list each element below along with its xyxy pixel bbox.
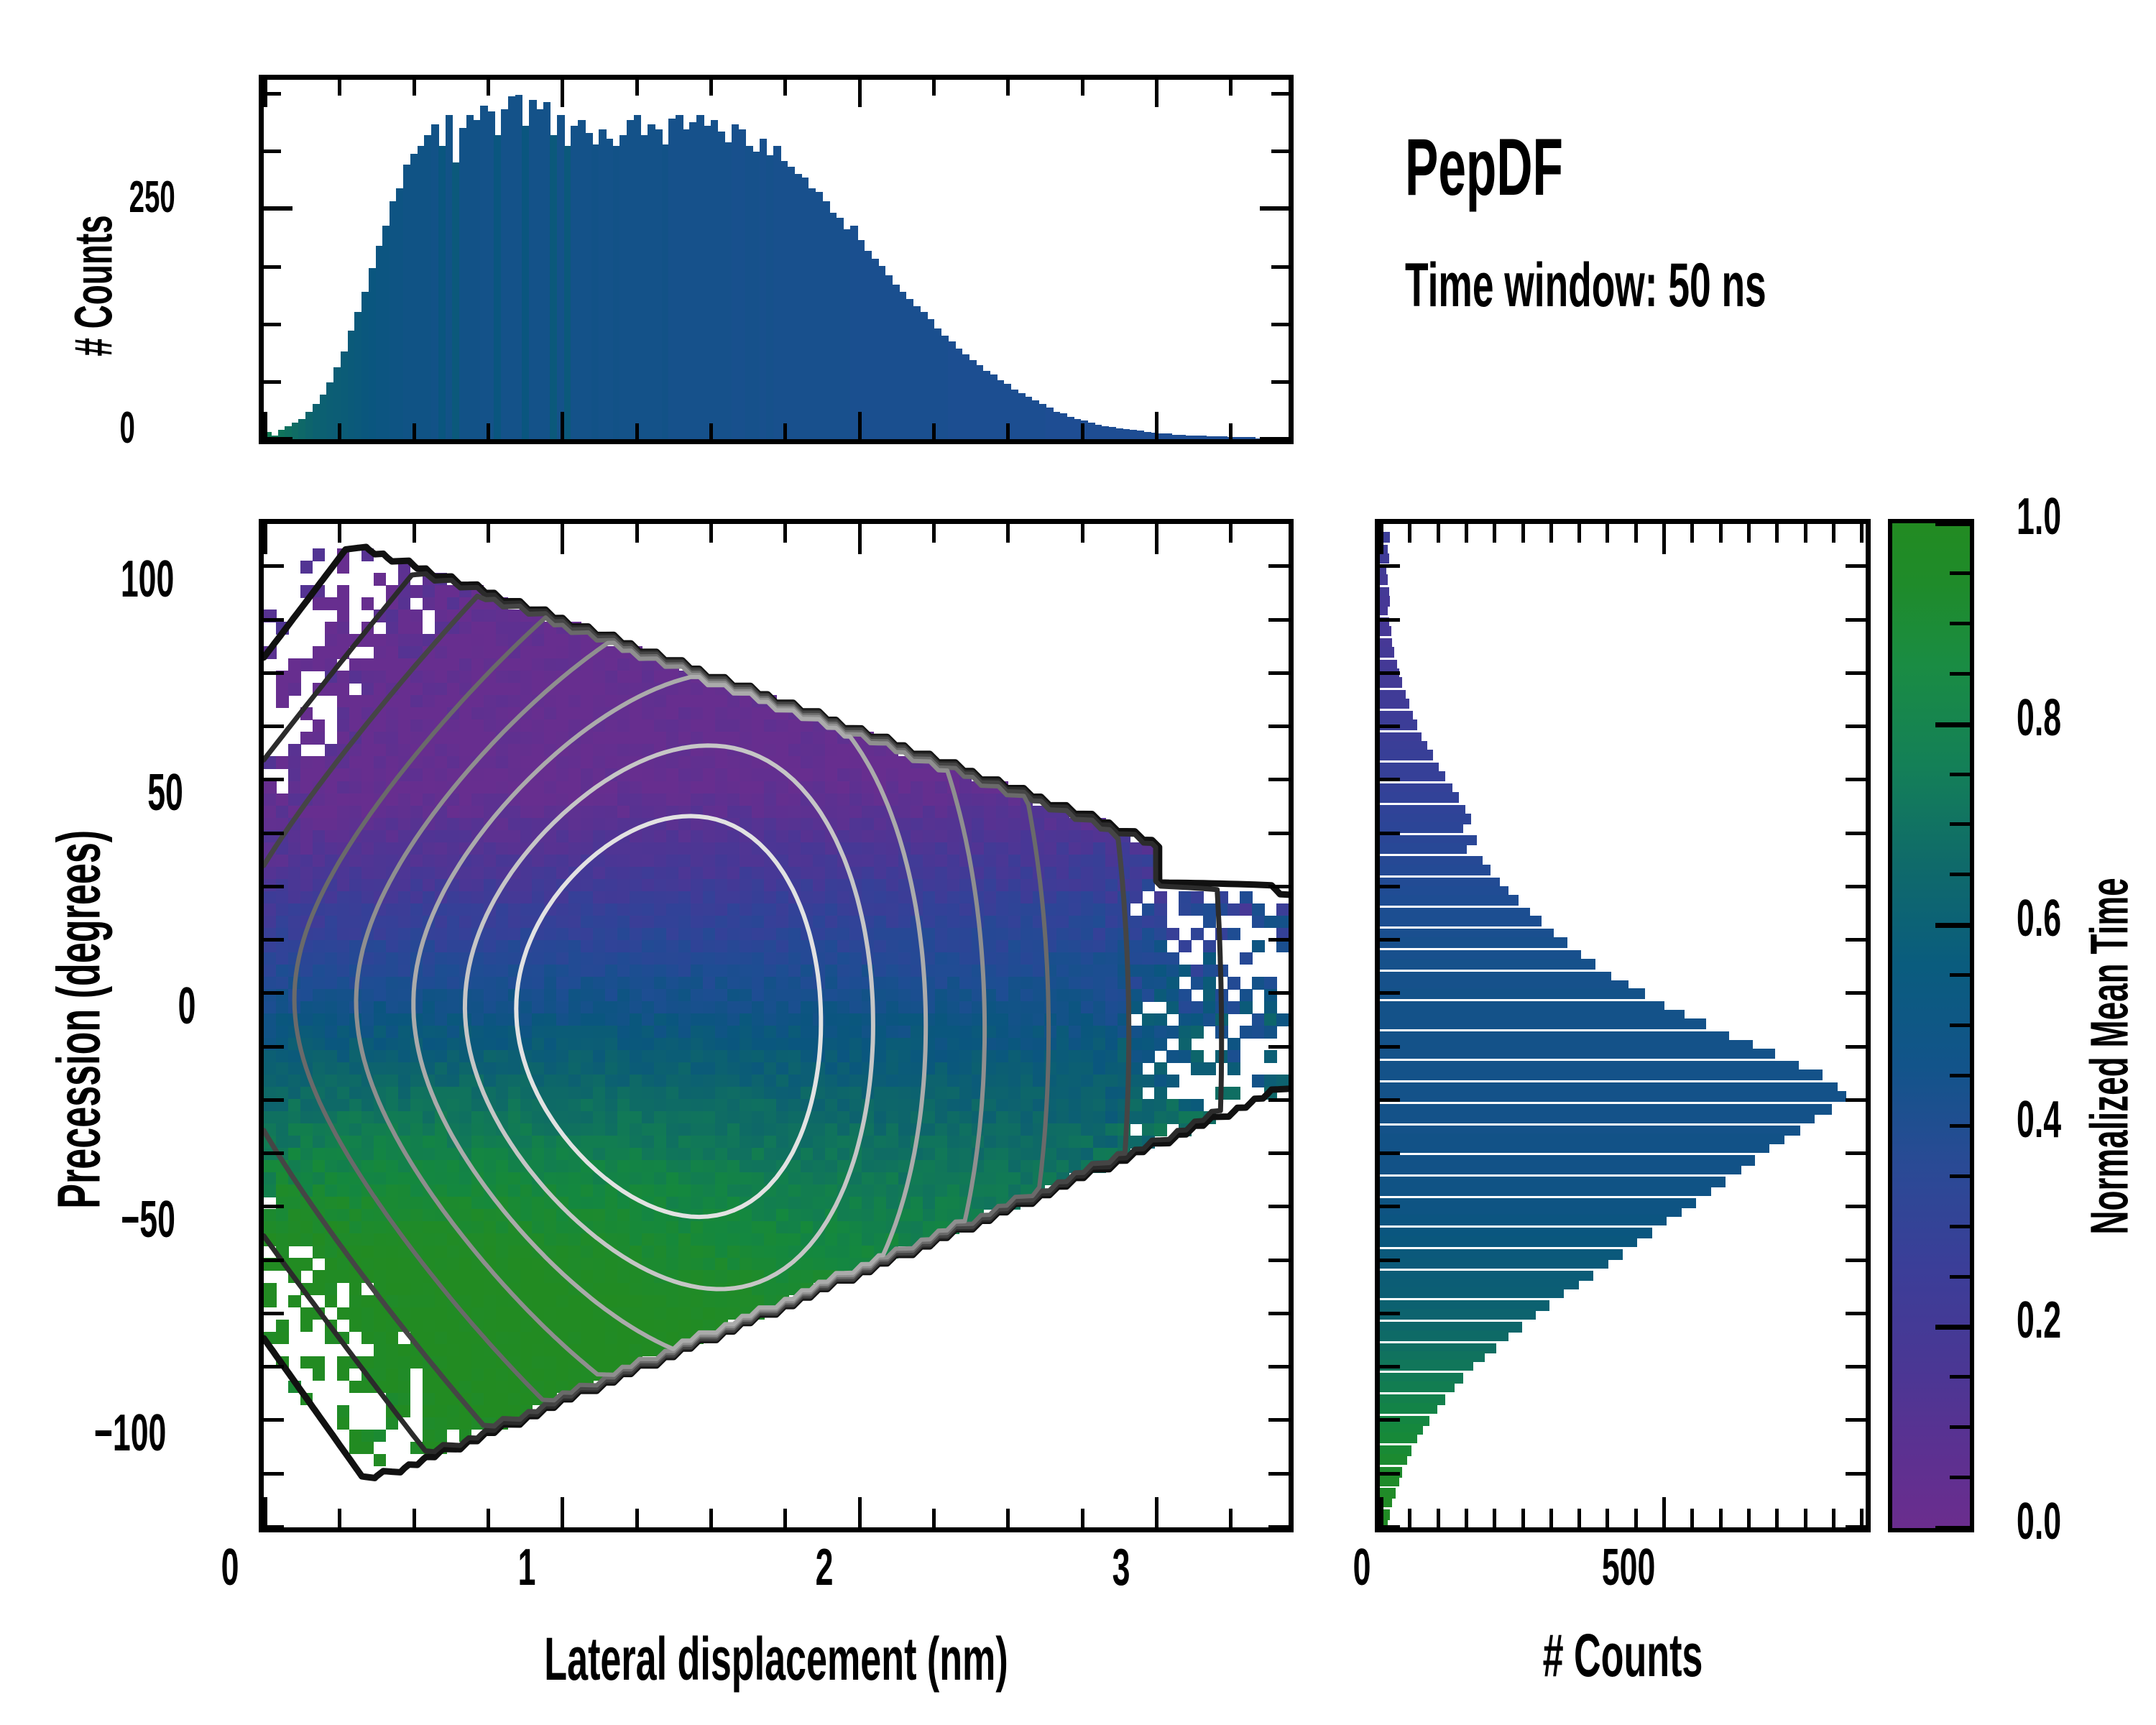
right-histogram-bar bbox=[1380, 604, 1388, 615]
right-hist-xtick-top bbox=[1804, 524, 1807, 543]
right-histogram-bar bbox=[1380, 1454, 1407, 1465]
main-xtick bbox=[1081, 1509, 1084, 1527]
top-hist-xtick bbox=[858, 80, 862, 107]
right-histogram-bar bbox=[1380, 1185, 1711, 1196]
right-hist-ytick-right bbox=[1846, 1472, 1866, 1476]
main-ytick bbox=[264, 671, 284, 675]
top-hist-ytick-minor bbox=[264, 323, 281, 326]
main-xtick bbox=[1229, 1509, 1233, 1527]
main-xlabel: Lateral displacement (nm) bbox=[456, 1624, 1097, 1694]
top-hist-xtick bbox=[932, 423, 936, 439]
right-hist-ytick bbox=[1380, 1151, 1400, 1155]
right-histogram-bar bbox=[1380, 553, 1389, 564]
colorbar-tick bbox=[1950, 1375, 1970, 1379]
colorbar-tick bbox=[1950, 1425, 1970, 1429]
main-ytick bbox=[264, 618, 284, 622]
right-hist-ytick bbox=[1380, 671, 1400, 675]
right-hist-ytick-right bbox=[1846, 564, 1866, 568]
colorbar-ticklabel-1.0: 1.0 bbox=[2017, 487, 2061, 546]
right-histogram-bar bbox=[1380, 1258, 1608, 1269]
right-histogram-bar bbox=[1380, 677, 1402, 688]
right-hist-ytick-right bbox=[1846, 618, 1866, 622]
colorbar-ticklabel-0.2: 0.2 bbox=[2017, 1291, 2061, 1350]
top-hist-xtick bbox=[561, 412, 564, 439]
main-xticklabel-3: 3 bbox=[1112, 1538, 1130, 1597]
main-xtick bbox=[1155, 1497, 1158, 1527]
main-xtick-top bbox=[561, 524, 564, 554]
right-hist-xticklabel-0: 0 bbox=[1353, 1538, 1371, 1597]
right-histogram-bar bbox=[1380, 1330, 1508, 1341]
main-yticklabel-3: 50 bbox=[147, 763, 183, 822]
right-hist-xtick-top bbox=[1719, 524, 1723, 543]
main-xticklabel-2: 2 bbox=[815, 1538, 833, 1597]
top-hist-xtick bbox=[635, 423, 639, 439]
top-hist-xtick bbox=[264, 412, 267, 439]
right-hist-ytick-right bbox=[1846, 1045, 1866, 1049]
main-ylabel: Precession (degrees) bbox=[45, 888, 114, 1208]
top-marginal-histogram-panel bbox=[259, 75, 1294, 444]
right-hist-xtick bbox=[1465, 1509, 1468, 1527]
main-xtick bbox=[487, 1509, 490, 1527]
main-ytick bbox=[264, 1259, 284, 1262]
main-ytick bbox=[264, 832, 284, 835]
top-hist-ytick-right bbox=[1271, 92, 1289, 96]
right-hist-xtick-top bbox=[1521, 524, 1525, 543]
right-hist-ytick-right bbox=[1846, 1418, 1866, 1422]
colorbar-ticklabel-0.4: 0.4 bbox=[2017, 1090, 2061, 1149]
top-hist-xtick bbox=[709, 423, 713, 439]
main-xtick bbox=[264, 1497, 267, 1527]
right-hist-xtick-top bbox=[1775, 524, 1779, 543]
right-histogram-bar bbox=[1380, 865, 1491, 875]
right-histogram-bar bbox=[1380, 1432, 1417, 1443]
right-hist-ytick bbox=[1380, 1418, 1400, 1422]
right-hist-ytick bbox=[1380, 618, 1400, 622]
right-hist-xtick bbox=[1577, 1509, 1581, 1527]
main-ytick-right bbox=[1268, 1472, 1289, 1476]
right-hist-xtick bbox=[1408, 1509, 1411, 1527]
main-yticklabel-1: −50 bbox=[121, 1190, 175, 1249]
colorbar-ticklabel-0.8: 0.8 bbox=[2017, 689, 2061, 747]
right-histogram-bar bbox=[1380, 1476, 1399, 1486]
right-histogram-bar bbox=[1380, 1287, 1564, 1298]
right-hist-ytick-right bbox=[1846, 778, 1866, 781]
right-histogram-bar bbox=[1380, 750, 1433, 760]
right-hist-ytick bbox=[1380, 1259, 1400, 1262]
main-xtick-top bbox=[932, 524, 936, 543]
right-histogram-bar bbox=[1380, 843, 1467, 854]
colorbar-tick bbox=[1935, 521, 1970, 526]
top-hist-xtick bbox=[561, 80, 564, 107]
right-hist-xtick-top bbox=[1662, 524, 1666, 554]
main-xtick-top bbox=[1155, 524, 1158, 554]
top-hist-yticklabel-0: 0 bbox=[120, 402, 135, 454]
right-hist-ytick bbox=[1380, 564, 1400, 568]
contour-line bbox=[264, 547, 1289, 1478]
subtitle: Time window: 50 ns bbox=[1405, 250, 1766, 321]
main-xtick-top bbox=[264, 524, 267, 554]
main-xtick-top bbox=[338, 524, 341, 543]
colorbar-tick bbox=[1950, 1124, 1970, 1128]
right-hist-ytick-right bbox=[1846, 1205, 1866, 1208]
main-xticklabel-0: 0 bbox=[221, 1538, 239, 1597]
top-hist-ytick-minor bbox=[264, 92, 281, 96]
right-hist-xtick bbox=[1606, 1509, 1609, 1527]
colorbar-tick bbox=[1950, 622, 1970, 625]
right-hist-xtick-top bbox=[1465, 524, 1468, 543]
main-ytick bbox=[264, 1525, 284, 1527]
main-ytick-right bbox=[1268, 671, 1289, 675]
contour-line bbox=[264, 596, 1129, 1426]
main-ytick-right bbox=[1268, 618, 1289, 622]
top-histogram-ylabel: # Counts bbox=[63, 197, 124, 375]
colorbar-tick bbox=[1935, 722, 1970, 727]
colorbar-tick bbox=[1950, 672, 1970, 676]
right-hist-ytick bbox=[1380, 1098, 1400, 1102]
main-ytick-right bbox=[1268, 564, 1289, 568]
main-xtick bbox=[561, 1497, 564, 1527]
top-hist-xtick bbox=[413, 423, 416, 439]
main-xtick-top bbox=[487, 524, 490, 543]
right-hist-xtick-top bbox=[1832, 524, 1835, 543]
right-histogram-bar bbox=[1380, 1049, 1775, 1059]
main-xtick bbox=[932, 1509, 936, 1527]
right-hist-xticklabel-500: 500 bbox=[1602, 1538, 1655, 1597]
main-ytick-right bbox=[1268, 1525, 1289, 1527]
right-hist-xtick bbox=[1747, 1509, 1751, 1527]
colorbar-ticklabel-0.6: 0.6 bbox=[2017, 889, 2061, 948]
right-hist-xtick-top bbox=[1380, 524, 1383, 554]
top-hist-xtick bbox=[858, 412, 862, 439]
main-xtick bbox=[1006, 1509, 1010, 1527]
right-hist-xtick bbox=[1690, 1509, 1694, 1527]
right-hist-xtick bbox=[1549, 1509, 1553, 1527]
colorbar bbox=[1888, 519, 1974, 1532]
right-hist-xtick-top bbox=[1634, 524, 1638, 543]
contour-line bbox=[413, 677, 926, 1349]
top-hist-ytick-major bbox=[264, 437, 292, 439]
colorbar-tick bbox=[1950, 1174, 1970, 1178]
right-histogram-bar bbox=[1380, 916, 1542, 926]
main-ytick-right bbox=[1268, 1418, 1289, 1422]
right-histogram-bar bbox=[1380, 574, 1388, 585]
main-ytick-right bbox=[1268, 938, 1289, 942]
right-histogram-xlabel: # Counts bbox=[1469, 1621, 1777, 1690]
main-xtick-top bbox=[783, 524, 787, 543]
main-ytick-right bbox=[1268, 1365, 1289, 1368]
right-histogram-bar bbox=[1380, 1236, 1637, 1247]
main-ytick bbox=[264, 938, 284, 942]
right-hist-ytick-right bbox=[1846, 1098, 1866, 1102]
main-ytick bbox=[264, 1205, 284, 1208]
colorbar-tick bbox=[1950, 873, 1970, 876]
top-hist-xtick bbox=[709, 80, 713, 96]
right-histogram-bar bbox=[1380, 1018, 1706, 1029]
right-hist-xtick-top bbox=[1549, 524, 1553, 543]
colorbar-tick bbox=[1950, 1074, 1970, 1077]
right-hist-xtick bbox=[1775, 1509, 1779, 1527]
right-histogram-bar bbox=[1380, 1113, 1815, 1123]
right-hist-xtick-top bbox=[1606, 524, 1609, 543]
right-hist-ytick-right bbox=[1846, 885, 1866, 888]
top-hist-ytick-minor bbox=[264, 265, 281, 269]
main-ytick bbox=[264, 1472, 284, 1476]
top-hist-ytick-right bbox=[1260, 206, 1289, 211]
colorbar-tick bbox=[1935, 923, 1970, 928]
top-hist-ytick-right bbox=[1260, 437, 1289, 439]
right-hist-xtick bbox=[1521, 1509, 1525, 1527]
main-ytick-right bbox=[1268, 1151, 1289, 1155]
right-hist-ytick-right bbox=[1846, 1151, 1866, 1155]
main-ytick-right bbox=[1268, 1045, 1289, 1049]
top-hist-xtick bbox=[1229, 423, 1233, 439]
main-xtick bbox=[413, 1509, 416, 1527]
main-ytick bbox=[264, 1045, 284, 1049]
right-hist-xtick bbox=[1380, 1497, 1383, 1527]
main-ytick-right bbox=[1268, 1312, 1289, 1315]
right-hist-ytick-right bbox=[1846, 724, 1866, 728]
main-ytick bbox=[264, 885, 284, 888]
colorbar-tick bbox=[1950, 1023, 1970, 1027]
right-histogram-bar bbox=[1380, 937, 1567, 948]
top-hist-xtick bbox=[487, 80, 490, 96]
main-xtick bbox=[338, 1509, 341, 1527]
main-ytick bbox=[264, 1151, 284, 1155]
top-hist-ytick-right bbox=[1271, 149, 1289, 153]
right-hist-xtick-top bbox=[1860, 524, 1864, 543]
main-xtick-top bbox=[709, 524, 713, 543]
right-hist-xtick bbox=[1804, 1509, 1807, 1527]
main-yticklabel-0: −100 bbox=[94, 1404, 167, 1463]
colorbar-tick bbox=[1950, 1476, 1970, 1479]
main-ytick-right bbox=[1268, 1259, 1289, 1262]
right-histogram-bar bbox=[1380, 1091, 1846, 1102]
contour-line bbox=[295, 617, 1049, 1400]
right-hist-ytick-right bbox=[1846, 832, 1866, 835]
colorbar-tick bbox=[1950, 773, 1970, 776]
right-hist-ytick bbox=[1380, 1205, 1400, 1208]
contour-line bbox=[465, 745, 873, 1289]
top-hist-xtick bbox=[932, 80, 936, 96]
right-histogram-bar bbox=[1380, 1381, 1455, 1392]
right-histogram-bar bbox=[1380, 988, 1645, 999]
colorbar-ticklabel-0.0: 0.0 bbox=[2017, 1492, 2061, 1551]
right-hist-ytick bbox=[1380, 885, 1400, 888]
top-hist-ytick-minor bbox=[264, 380, 281, 384]
right-hist-xtick bbox=[1719, 1509, 1723, 1527]
top-hist-xtick bbox=[413, 80, 416, 96]
right-hist-ytick bbox=[1380, 778, 1400, 781]
right-hist-ytick-right bbox=[1846, 671, 1866, 675]
contour-line bbox=[516, 816, 821, 1217]
right-hist-ytick bbox=[1380, 1045, 1400, 1049]
main-ytick bbox=[264, 1365, 284, 1368]
top-hist-xtick bbox=[1155, 412, 1158, 439]
top-hist-xtick bbox=[487, 423, 490, 439]
right-hist-xtick-top bbox=[1408, 524, 1411, 543]
top-hist-xtick bbox=[1229, 80, 1233, 96]
colorbar-tick bbox=[1950, 1225, 1970, 1228]
top-hist-xtick bbox=[1006, 423, 1010, 439]
top-hist-ytick-minor bbox=[264, 149, 281, 153]
right-histogram-bar bbox=[1380, 1164, 1741, 1174]
right-histogram-bar bbox=[1380, 792, 1459, 803]
main-yticklabel-4: 100 bbox=[121, 550, 174, 609]
right-hist-ytick bbox=[1380, 1365, 1400, 1368]
right-hist-ytick bbox=[1380, 1312, 1400, 1315]
main-xtick bbox=[635, 1509, 639, 1527]
top-hist-xtick bbox=[1081, 80, 1084, 96]
main-ytick bbox=[264, 1312, 284, 1315]
main-xtick-top bbox=[635, 524, 639, 543]
main-ytick-right bbox=[1268, 832, 1289, 835]
figure-canvas: # Counts Precession (degrees) Lateral di… bbox=[0, 0, 2156, 1725]
right-hist-xtick-top bbox=[1577, 524, 1581, 543]
top-hist-xtick bbox=[635, 80, 639, 96]
colorbar-tick bbox=[1950, 1275, 1970, 1279]
main-xtick bbox=[709, 1509, 713, 1527]
right-histogram-bar bbox=[1380, 699, 1409, 709]
right-hist-xtick-top bbox=[1747, 524, 1751, 543]
density-contour-overlay bbox=[264, 524, 1289, 1527]
right-hist-ytick bbox=[1380, 1472, 1400, 1476]
right-marginal-histogram-panel bbox=[1375, 519, 1871, 1532]
colorbar-tick bbox=[1935, 1526, 1970, 1531]
right-hist-ytick-right bbox=[1846, 938, 1866, 942]
right-histogram-bar bbox=[1380, 1309, 1536, 1320]
main-xtick bbox=[858, 1497, 862, 1527]
main-ytick bbox=[264, 991, 284, 995]
colorbar-tick bbox=[1950, 822, 1970, 826]
main-ytick-right bbox=[1268, 1205, 1289, 1208]
right-hist-ytick-right bbox=[1846, 1525, 1866, 1527]
top-hist-yticklabel-250: 250 bbox=[129, 172, 175, 223]
right-histogram-bar bbox=[1380, 647, 1394, 658]
right-histogram-bar bbox=[1380, 895, 1519, 906]
right-hist-ytick-right bbox=[1846, 1259, 1866, 1262]
right-hist-ytick-right bbox=[1846, 1365, 1866, 1368]
top-hist-xtick bbox=[1155, 80, 1158, 107]
right-hist-xtick bbox=[1832, 1509, 1835, 1527]
main-ytick bbox=[264, 564, 284, 568]
right-hist-xtick bbox=[1493, 1509, 1496, 1527]
right-hist-xtick bbox=[1662, 1497, 1666, 1527]
main-ytick bbox=[264, 724, 284, 728]
main-ytick-right bbox=[1268, 991, 1289, 995]
main-yticklabel-2: 0 bbox=[178, 977, 196, 1036]
right-hist-ytick-right bbox=[1846, 991, 1866, 995]
top-hist-xtick bbox=[1081, 423, 1084, 439]
right-hist-xtick-top bbox=[1493, 524, 1496, 543]
main-ytick-right bbox=[1268, 1098, 1289, 1102]
right-histogram-bar bbox=[1380, 1215, 1667, 1225]
right-histogram-bar bbox=[1380, 1069, 1823, 1080]
top-hist-ytick-right bbox=[1271, 380, 1289, 384]
right-hist-xtick bbox=[1437, 1509, 1440, 1527]
right-hist-ytick bbox=[1380, 724, 1400, 728]
main-xtick bbox=[783, 1509, 787, 1527]
right-hist-xtick-top bbox=[1690, 524, 1694, 543]
colorbar-tick bbox=[1950, 973, 1970, 977]
main-ytick-right bbox=[1268, 778, 1289, 781]
top-hist-ytick-right bbox=[1271, 323, 1289, 326]
top-hist-xtick bbox=[338, 423, 341, 439]
right-histogram-bar bbox=[1380, 1142, 1769, 1153]
main-ytick-right bbox=[1268, 724, 1289, 728]
top-hist-xtick bbox=[783, 423, 787, 439]
right-hist-ytick bbox=[1380, 832, 1400, 835]
right-hist-ytick bbox=[1380, 1525, 1400, 1527]
main-ytick bbox=[264, 778, 284, 781]
right-hist-xtick-top bbox=[1437, 524, 1440, 543]
top-hist-ytick-right bbox=[1271, 265, 1289, 269]
right-histogram-bar bbox=[1380, 626, 1391, 637]
top-hist-xtick bbox=[1006, 80, 1010, 96]
main-ytick-right bbox=[1268, 885, 1289, 888]
main-xtick-top bbox=[1229, 524, 1233, 543]
main-xtick-top bbox=[1081, 524, 1084, 543]
main-xtick-top bbox=[1006, 524, 1010, 543]
main-xtick-top bbox=[413, 524, 416, 543]
colorbar-tick bbox=[1935, 1325, 1970, 1330]
main-xticklabel-1: 1 bbox=[518, 1538, 536, 1597]
right-hist-ytick bbox=[1380, 938, 1400, 942]
main-ytick bbox=[264, 1098, 284, 1102]
right-hist-ytick bbox=[1380, 991, 1400, 995]
joint-heatmap-panel bbox=[259, 519, 1294, 1532]
right-hist-ytick-right bbox=[1846, 1312, 1866, 1315]
top-hist-xtick bbox=[338, 80, 341, 96]
top-hist-ytick-major bbox=[264, 206, 292, 211]
colorbar-label: Normalized Mean Time bbox=[2079, 860, 2140, 1253]
main-xtick-top bbox=[858, 524, 862, 554]
top-hist-xtick bbox=[783, 80, 787, 96]
main-ytick bbox=[264, 1418, 284, 1422]
right-hist-xtick bbox=[1634, 1509, 1638, 1527]
right-histogram-bar bbox=[1380, 959, 1595, 970]
page-title: PepDF bbox=[1405, 121, 1563, 213]
colorbar-tick bbox=[1950, 571, 1970, 575]
right-histogram-bar bbox=[1380, 1403, 1437, 1414]
